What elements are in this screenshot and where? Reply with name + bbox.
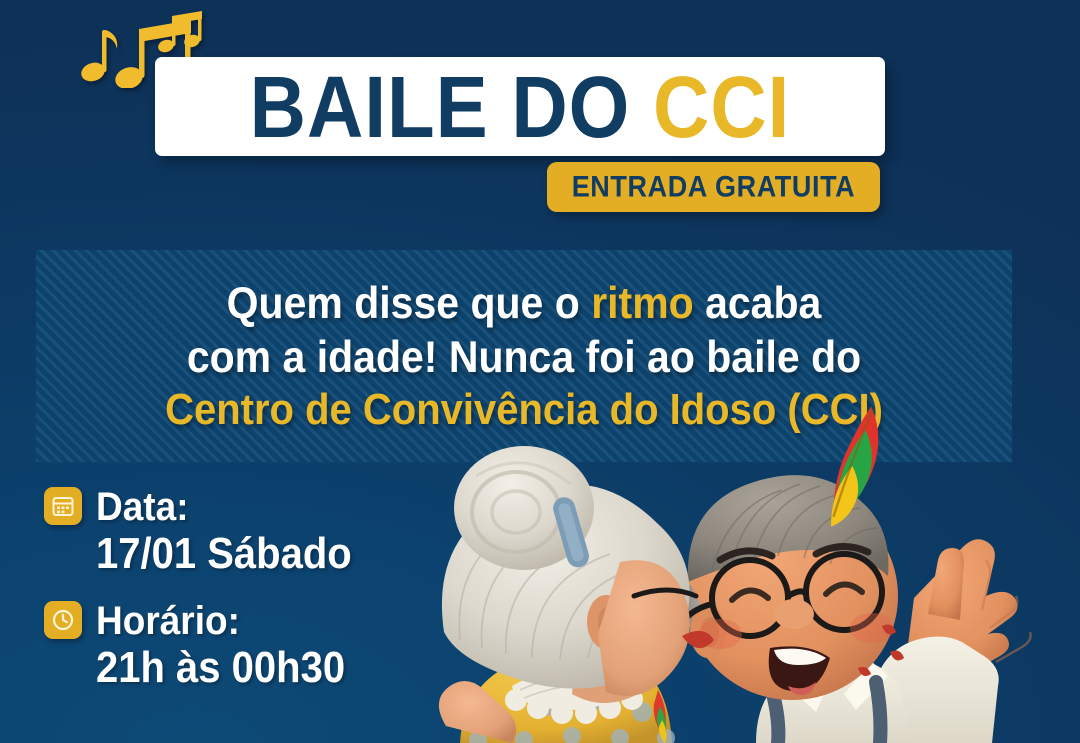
woman-ear (587, 595, 625, 649)
time-label: Horário: (96, 600, 240, 640)
event-details: Data: 17/01 Sábado Horário: 21h às 00h30 (44, 487, 504, 715)
man-hair (688, 475, 889, 582)
title-accent: CCI (653, 57, 790, 156)
headline-line-3: Centro de Convivência do Idoso (CCI) (165, 384, 883, 437)
clock-icon (44, 601, 82, 639)
kiss-mark-1 (882, 624, 896, 634)
detail-row-date: Data: 17/01 Sábado (44, 487, 504, 575)
woman-face (598, 560, 690, 696)
title-main: BAILE DO (250, 57, 631, 156)
man-shirt (756, 659, 912, 743)
time-value: 21h às 00h30 (96, 645, 504, 690)
man-suspender-left (772, 690, 778, 743)
man-raised-hand (906, 539, 1031, 679)
woman-lips (682, 631, 714, 648)
woman-hairpin (551, 495, 592, 570)
free-entry-badge: ENTRADA GRATUITA (547, 162, 880, 212)
page-title: BAILE DO CCI (250, 63, 791, 150)
calendar-icon (44, 487, 82, 525)
headline-line-2: com a idade! Nunca foi ao baile do (187, 330, 861, 384)
man-sleeve (864, 636, 999, 743)
headline-line-1-post: acaba (694, 278, 822, 328)
woman-lace-collar (512, 666, 634, 710)
date-value: 17/01 Sábado (96, 531, 504, 576)
detail-row-time: Horário: 21h às 00h30 (44, 601, 504, 689)
date-heading: Data: (44, 487, 504, 525)
headline-line-1: Quem disse que o ritmo acaba (227, 276, 822, 330)
kiss-mark-2 (890, 650, 904, 660)
title-card: BAILE DO CCI (155, 57, 885, 156)
headline-line-1-pre: Quem disse que o (227, 278, 592, 328)
flyer-canvas: BAILE DO CCI ENTRADA GRATUITA Quem disse… (0, 0, 1080, 743)
date-label: Data: (96, 486, 189, 526)
time-heading: Horário: (44, 601, 504, 639)
lace-scallops (505, 688, 643, 724)
kiss-mark-3 (858, 667, 871, 676)
free-entry-label: ENTRADA GRATUITA (572, 170, 856, 203)
confetti-feather (654, 690, 667, 743)
headline-accent-word: ritmo (591, 278, 694, 328)
man-suspender-right (876, 682, 881, 743)
headline-panel: Quem disse que o ritmo acaba com a idade… (36, 250, 1012, 462)
man-head (686, 475, 904, 700)
man-glasses (686, 554, 882, 636)
